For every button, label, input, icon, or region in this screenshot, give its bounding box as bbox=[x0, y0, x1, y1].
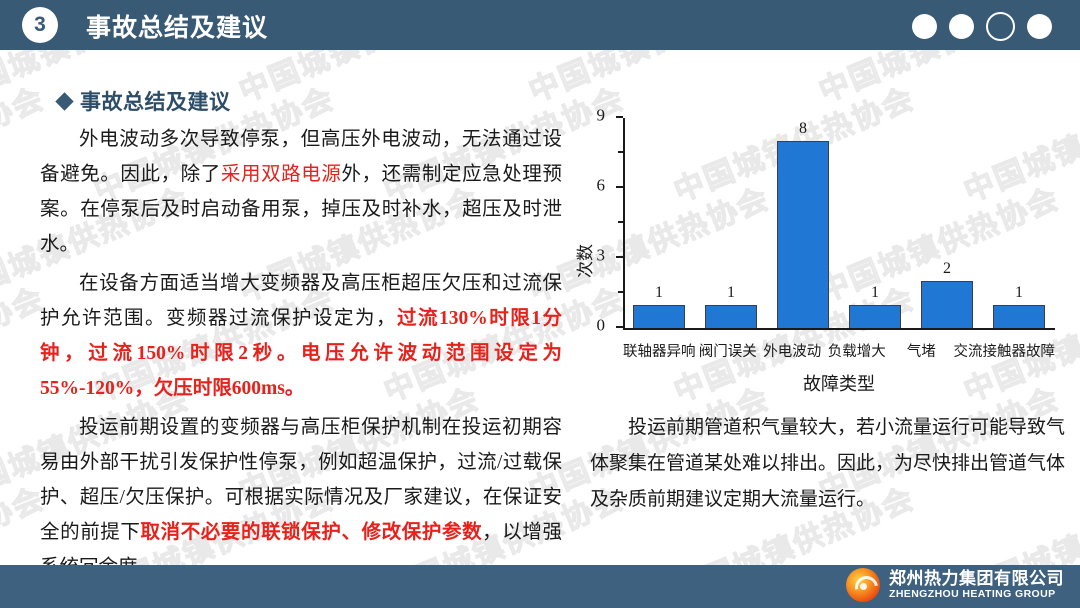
chart-y-axis-title: 次数 bbox=[571, 244, 596, 278]
page-title: 事故总结及建议 bbox=[86, 8, 268, 44]
chart-y-tick-label: 6 bbox=[597, 175, 606, 195]
highlight-text-run: 取消不必要的联锁保护、修改保护参数 bbox=[141, 522, 483, 543]
chart-y-tick-label: 3 bbox=[597, 245, 606, 265]
chart-x-axis bbox=[623, 328, 1055, 330]
chart-x-tick-labels: 联轴器异响阀门误关外电波动负载增大气堵交流接触器故障 bbox=[623, 340, 1055, 361]
company-logo-text: 郑州热力集团有限公司 ZHENGZHOU HEATING GROUP bbox=[889, 570, 1064, 601]
company-logo: 郑州热力集团有限公司 ZHENGZHOU HEATING GROUP bbox=[846, 568, 1064, 602]
chart-bar[interactable] bbox=[705, 305, 757, 328]
fault-type-bar-chart: 次数 0369 118121 联轴器异响阀门误关外电波动负载增大气堵交流接触器故… bbox=[575, 108, 1075, 393]
text-run: 投运前期管道积气量较大，若小流量运行可能导致气体聚集在管道某处难以排出。因此，为… bbox=[590, 417, 1065, 510]
chart-y-tick: 6 bbox=[616, 186, 623, 188]
chart-y-tick-label: 9 bbox=[597, 105, 606, 125]
paragraph: 投运前期设置的变频器与高压柜保护机制在投运初期容易由外部干扰引发保护性停泵，例如… bbox=[40, 410, 562, 585]
paragraph: 投运前期管道积气量较大，若小流量运行可能导致气体聚集在管道某处难以排出。因此，为… bbox=[590, 410, 1065, 518]
chart-x-tick-label: 阀门误关 bbox=[696, 340, 761, 361]
paragraph: 外电波动多次导致停泵，但高压外电波动，无法通过设备避免。因此，除了采用双路电源外… bbox=[40, 122, 562, 262]
progress-dot-2[interactable] bbox=[949, 14, 974, 39]
chart-bar-value-label: 1 bbox=[1015, 284, 1023, 302]
diamond-bullet-icon bbox=[55, 92, 73, 110]
section-number-badge: 3 bbox=[22, 7, 58, 43]
header-progress-dots bbox=[912, 12, 1052, 41]
progress-dot-1[interactable] bbox=[912, 14, 937, 39]
chart-bar-value-label: 1 bbox=[727, 284, 735, 302]
slide-body: 事故总结及建议 外电波动多次导致停泵，但高压外电波动，无法通过设备避免。因此，除… bbox=[0, 0, 1080, 608]
chart-bar-slot[interactable]: 1 bbox=[839, 118, 911, 328]
slide-footer: 郑州热力集团有限公司 ZHENGZHOU HEATING GROUP bbox=[0, 565, 1080, 608]
chart-bar-slot[interactable]: 8 bbox=[767, 118, 839, 328]
chart-y-tick: 9 bbox=[616, 116, 623, 118]
chart-x-tick-label: 负载增大 bbox=[825, 340, 890, 361]
chart-x-tick-label: 气堵 bbox=[889, 340, 954, 361]
chart-x-axis-title: 故障类型 bbox=[623, 370, 1055, 396]
section-heading: 事故总结及建议 bbox=[58, 86, 231, 116]
chart-bar-value-label: 8 bbox=[799, 120, 807, 138]
chart-bar[interactable] bbox=[921, 281, 973, 328]
chart-y-tick: 0 bbox=[616, 326, 623, 328]
chart-bars: 118121 bbox=[623, 118, 1055, 328]
section-heading-label: 事故总结及建议 bbox=[80, 86, 231, 116]
slide-header: 3 事故总结及建议 bbox=[0, 0, 1080, 50]
left-text-column: 外电波动多次导致停泵，但高压外电波动，无法通过设备避免。因此，除了采用双路电源外… bbox=[40, 122, 562, 589]
chart-bar-slot[interactable]: 1 bbox=[983, 118, 1055, 328]
chart-bar-value-label: 1 bbox=[655, 284, 663, 302]
chart-plot-area: 0369 118121 bbox=[623, 118, 1055, 330]
chart-x-tick-label: 外电波动 bbox=[760, 340, 825, 361]
chart-bar[interactable] bbox=[849, 305, 901, 328]
right-text-column: 投运前期管道积气量较大，若小流量运行可能导致气体聚集在管道某处难以排出。因此，为… bbox=[590, 410, 1065, 522]
paragraph: 在设备方面适当增大变频器及高压柜超压欠压和过流保护允许范围。变频器过流保护设定为… bbox=[40, 266, 562, 406]
progress-dot-4[interactable] bbox=[1027, 14, 1052, 39]
chart-bar-value-label: 1 bbox=[871, 284, 879, 302]
chart-bar-slot[interactable]: 1 bbox=[623, 118, 695, 328]
chart-bar[interactable] bbox=[633, 305, 685, 328]
chart-y-tick-label: 0 bbox=[597, 315, 606, 335]
company-name-en: ZHENGZHOU HEATING GROUP bbox=[889, 589, 1064, 600]
company-name-cn: 郑州热力集团有限公司 bbox=[889, 570, 1064, 588]
progress-dot-3-active[interactable] bbox=[986, 12, 1015, 41]
highlight-text-run: 采用双路电源 bbox=[221, 164, 342, 185]
chart-bar[interactable] bbox=[993, 305, 1045, 328]
chart-bar-slot[interactable]: 2 bbox=[911, 118, 983, 328]
chart-bar-value-label: 2 bbox=[943, 260, 951, 278]
chart-x-tick-label: 联轴器异响 bbox=[623, 340, 696, 361]
chart-x-tick-label: 交流接触器故障 bbox=[954, 340, 1056, 361]
chart-y-tick: 3 bbox=[616, 256, 623, 258]
flame-swirl-logo-icon bbox=[846, 568, 880, 602]
chart-bar-slot[interactable]: 1 bbox=[695, 118, 767, 328]
chart-bar[interactable] bbox=[777, 141, 829, 328]
